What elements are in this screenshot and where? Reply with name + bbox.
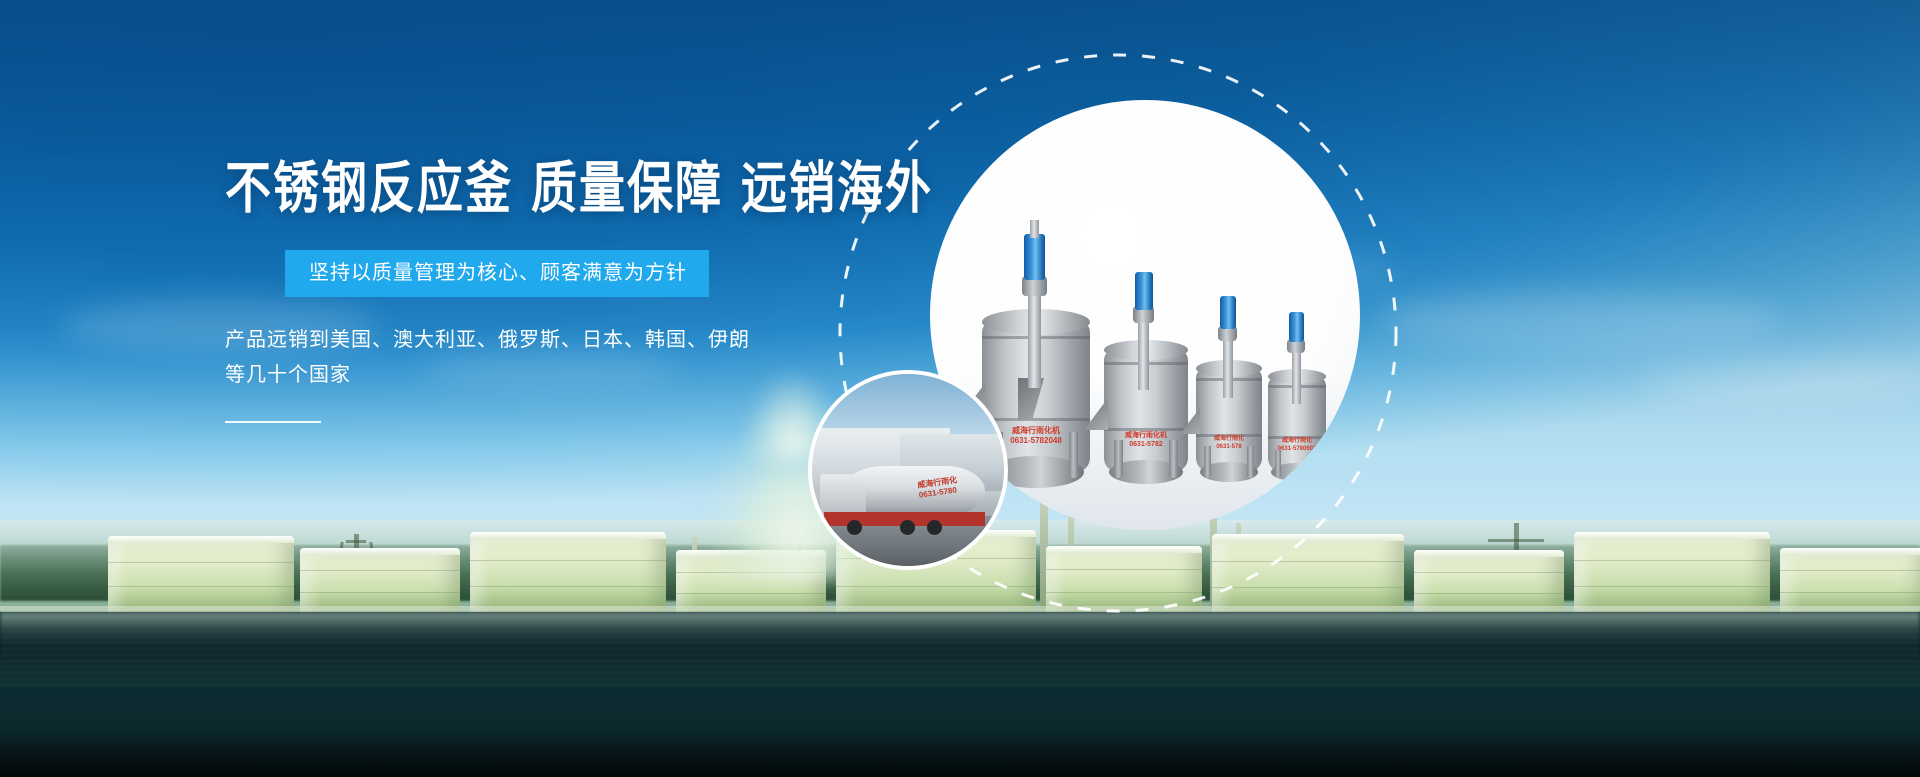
banner-description: 产品远销到美国、澳大利亚、俄罗斯、日本、韩国、伊朗 等几十个国家 (225, 323, 985, 393)
page-title: 不锈钢反应釜 质量保障 远销海外 (225, 160, 985, 216)
hero-banner: 威海行雨化机 0631-5782048 威海行雨化机 0631-5782 (0, 0, 1920, 777)
description-line-2: 等几十个国家 (225, 358, 985, 393)
drive-motor (1220, 296, 1236, 329)
vessel-label: 威海行雨化 0631-578 (1214, 436, 1244, 451)
water-reflection (0, 618, 1920, 688)
agitator-shaft (1138, 318, 1149, 390)
divider-rule (225, 421, 321, 423)
motor-cap (1030, 220, 1039, 238)
storage-tank (470, 532, 666, 612)
slogan-badge: 坚持以质量管理为核心、顾客满意为方针 (285, 250, 709, 297)
agitator-shaft (1223, 336, 1233, 398)
drive-motor (1135, 272, 1153, 310)
drive-motor (1289, 312, 1304, 342)
truck-cab (820, 474, 866, 516)
cloud (1380, 292, 1780, 350)
drive-motor (1024, 234, 1045, 280)
storage-tank (300, 548, 460, 612)
description-line-1: 产品远销到美国、澳大利亚、俄罗斯、日本、韩国、伊朗 (225, 323, 985, 358)
bottom-vignette (0, 729, 1920, 777)
vessel-label: 威海行雨化机 0631-5782048 (1010, 426, 1062, 446)
truck-wheel (847, 520, 862, 535)
storage-tank (1414, 550, 1564, 612)
agitator-shaft (1028, 290, 1041, 388)
vessel-label: 威海行雨化 0631-5780602 (1278, 438, 1317, 453)
agitator-shaft (1292, 348, 1301, 404)
vessel-label: 威海行雨化机 0631-5782 (1125, 432, 1167, 450)
cloud (1640, 360, 1920, 404)
storage-tank (1574, 532, 1770, 612)
storage-tank (1780, 548, 1920, 612)
storage-tank (108, 536, 294, 612)
banner-copy: 不锈钢反应釜 质量保障 远销海外 坚持以质量管理为核心、顾客满意为方针 产品远销… (225, 160, 985, 423)
